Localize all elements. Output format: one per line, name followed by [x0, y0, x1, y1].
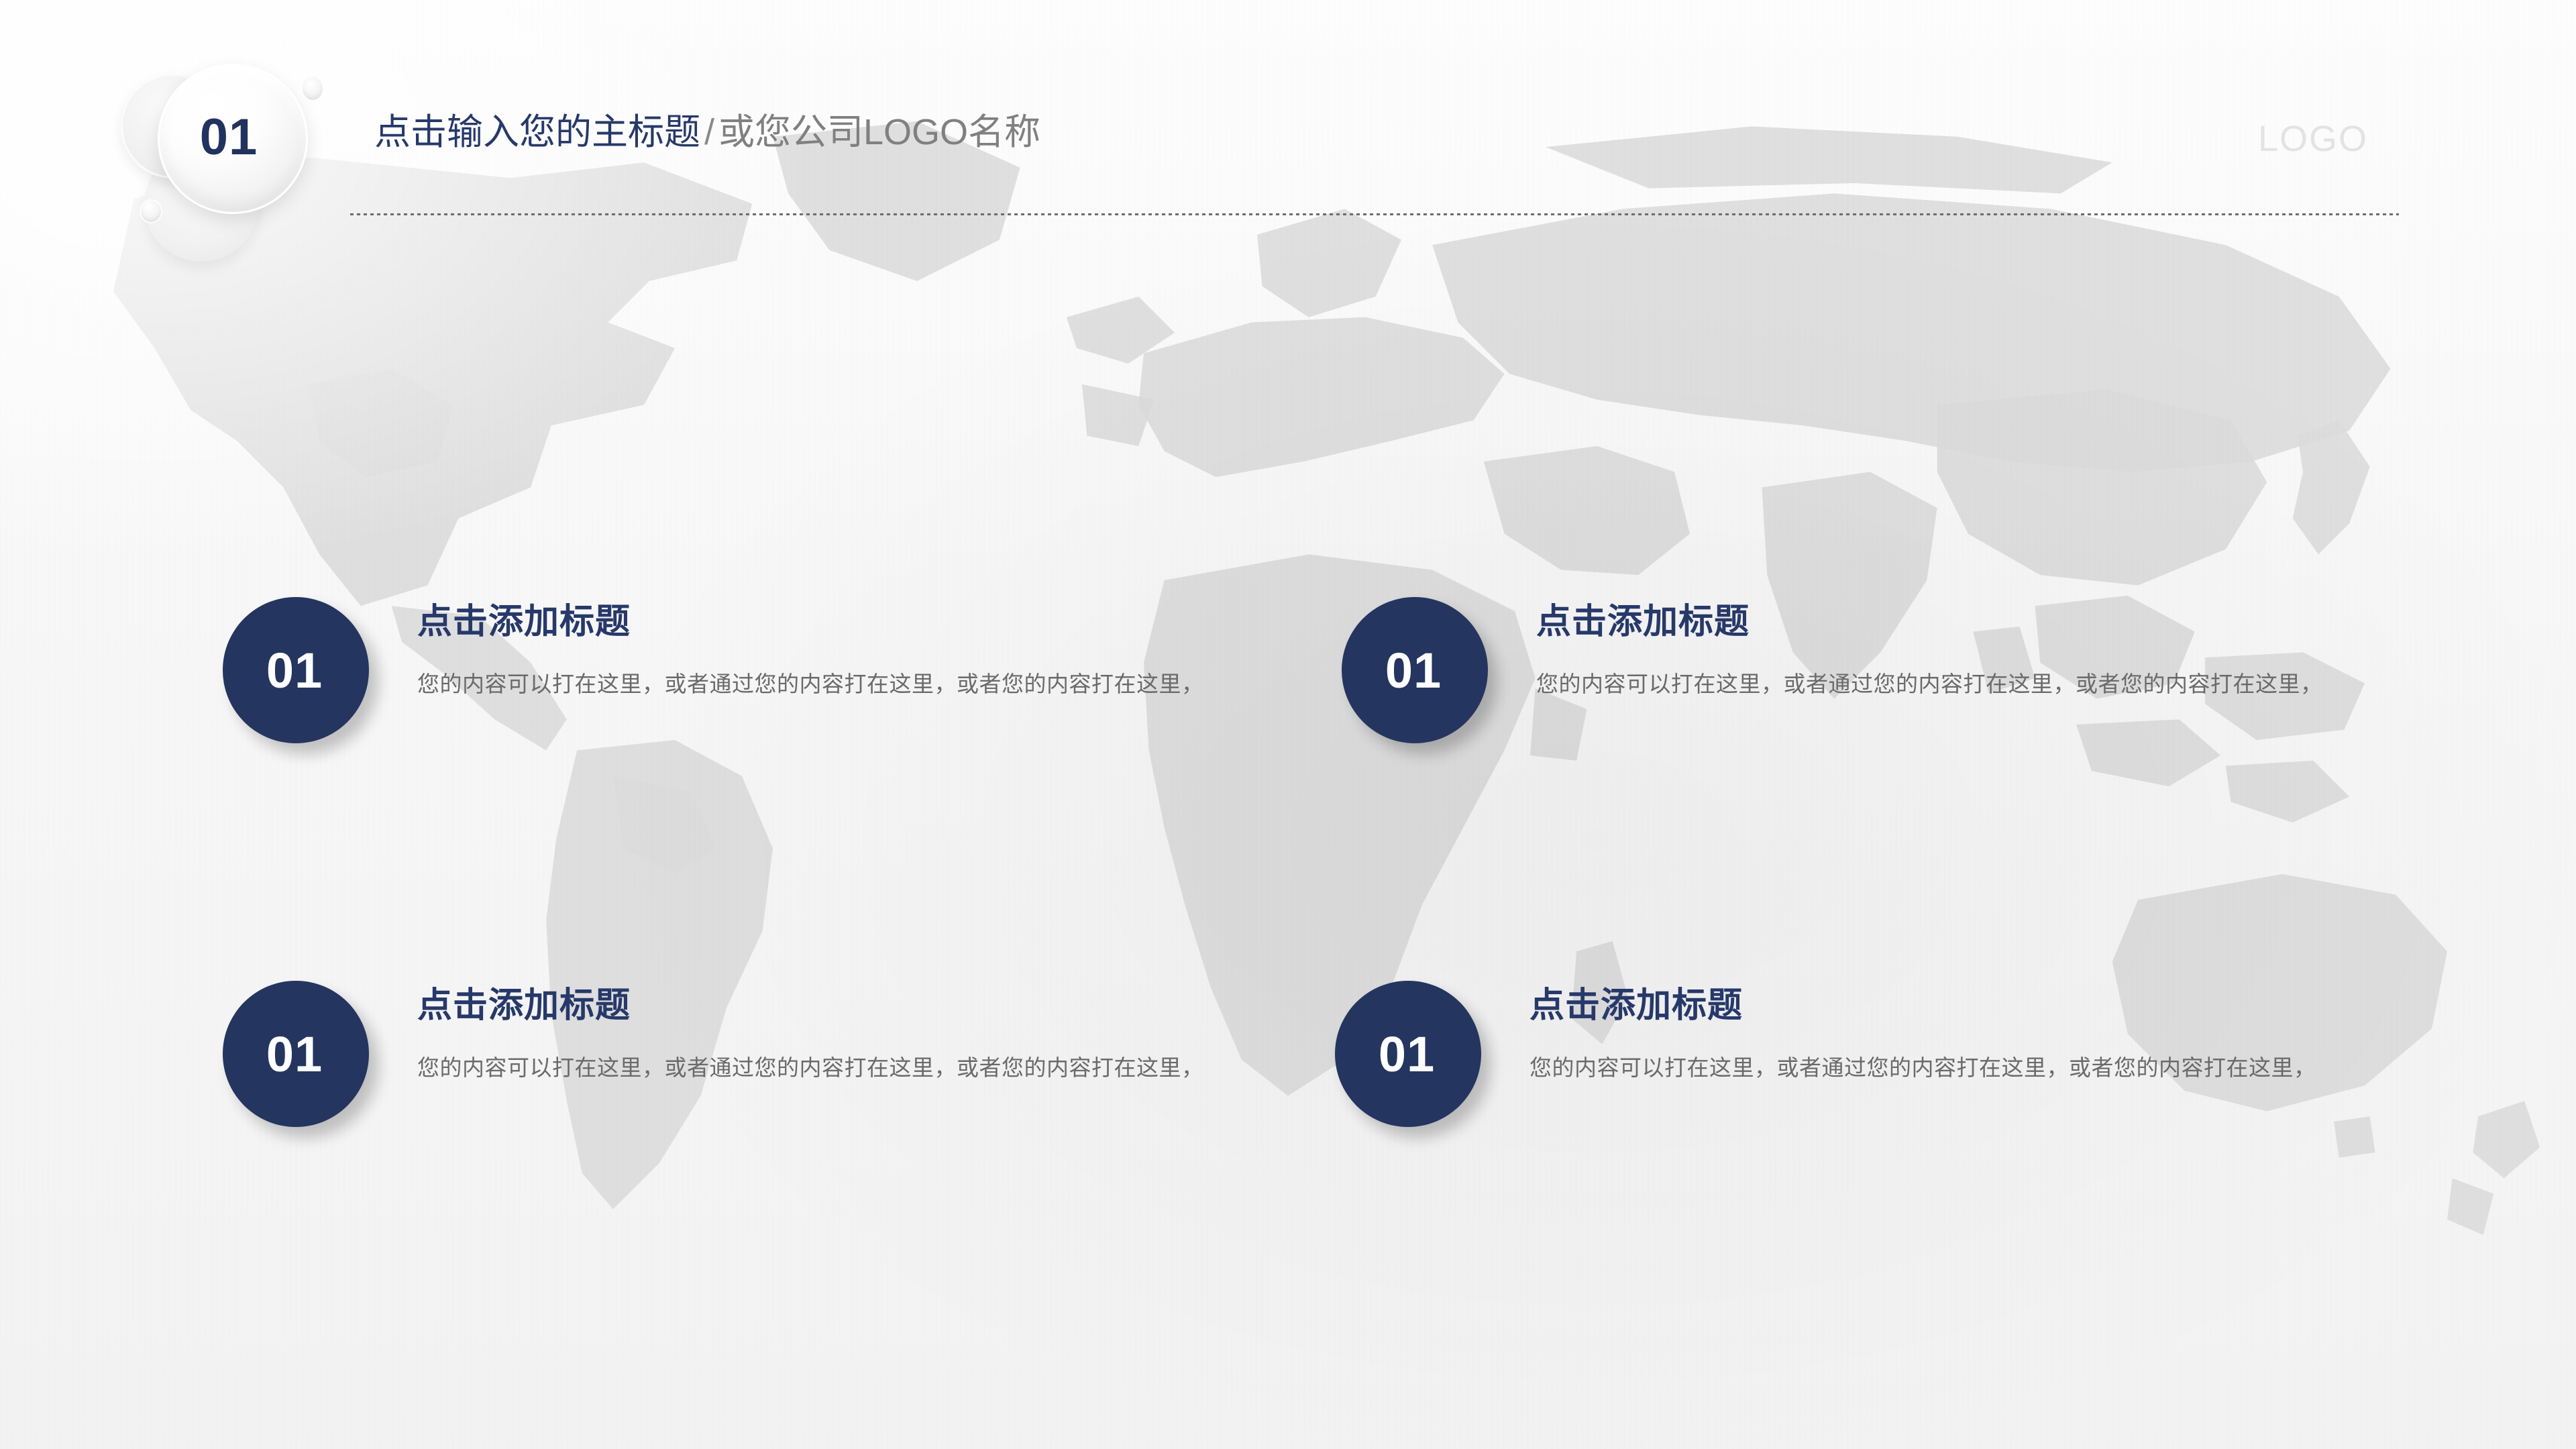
- block-2-badge-number: 01: [1385, 642, 1444, 699]
- block-1-title[interactable]: 点击添加标题: [417, 604, 1283, 641]
- block-2-body[interactable]: 您的内容可以打在这里，或者通过您的内容打在这里，或者您的内容打在这里，: [1536, 663, 2402, 704]
- block-4-badge-number: 01: [1379, 1026, 1438, 1083]
- company-logo-placeholder[interactable]: LOGO: [2258, 118, 2368, 160]
- block-4-badge[interactable]: 01: [1335, 981, 1481, 1127]
- page-title[interactable]: 点击输入您的主标题/或您公司LOGO名称: [374, 113, 1040, 152]
- decorative-bubble-dot-top-right: [301, 76, 324, 101]
- block-4-text: 点击添加标题 您的内容可以打在这里，或者通过您的内容打在这里，或者您的内容打在这…: [1529, 987, 2395, 1088]
- header-section-number: 01: [158, 64, 304, 210]
- slide-header: 01 点击输入您的主标题/或您公司LOGO名称 LOGO: [0, 0, 2576, 228]
- block-4-title[interactable]: 点击添加标题: [1529, 987, 2395, 1024]
- block-1-text: 点击添加标题 您的内容可以打在这里，或者通过您的内容打在这里，或者您的内容打在这…: [417, 604, 1283, 704]
- block-3-badge[interactable]: 01: [223, 981, 369, 1127]
- block-4-body[interactable]: 您的内容可以打在这里，或者通过您的内容打在这里，或者您的内容打在这里，: [1529, 1047, 2395, 1088]
- block-1-badge-number: 01: [266, 642, 325, 699]
- block-1-body[interactable]: 您的内容可以打在这里，或者通过您的内容打在这里，或者您的内容打在这里，: [417, 663, 1283, 704]
- slide-canvas: 01 点击输入您的主标题/或您公司LOGO名称 LOGO 01 点击添加标题 您…: [0, 0, 2576, 1449]
- block-3-text: 点击添加标题 您的内容可以打在这里，或者通过您的内容打在这里，或者您的内容打在这…: [417, 987, 1283, 1088]
- page-title-sub: 或您公司LOGO名称: [718, 112, 1040, 152]
- block-3-body[interactable]: 您的内容可以打在这里，或者通过您的内容打在这里，或者您的内容打在这里，: [417, 1047, 1283, 1088]
- header-divider: [350, 213, 2399, 215]
- page-title-main: 点击输入您的主标题: [374, 112, 700, 152]
- block-1-badge[interactable]: 01: [223, 597, 369, 743]
- block-2-text: 点击添加标题 您的内容可以打在这里，或者通过您的内容打在这里，或者您的内容打在这…: [1536, 604, 2402, 704]
- block-3-title[interactable]: 点击添加标题: [417, 987, 1283, 1024]
- block-3-badge-number: 01: [266, 1026, 325, 1083]
- page-title-separator: /: [700, 112, 718, 152]
- block-2-badge[interactable]: 01: [1342, 597, 1488, 743]
- block-2-title[interactable]: 点击添加标题: [1536, 604, 2402, 641]
